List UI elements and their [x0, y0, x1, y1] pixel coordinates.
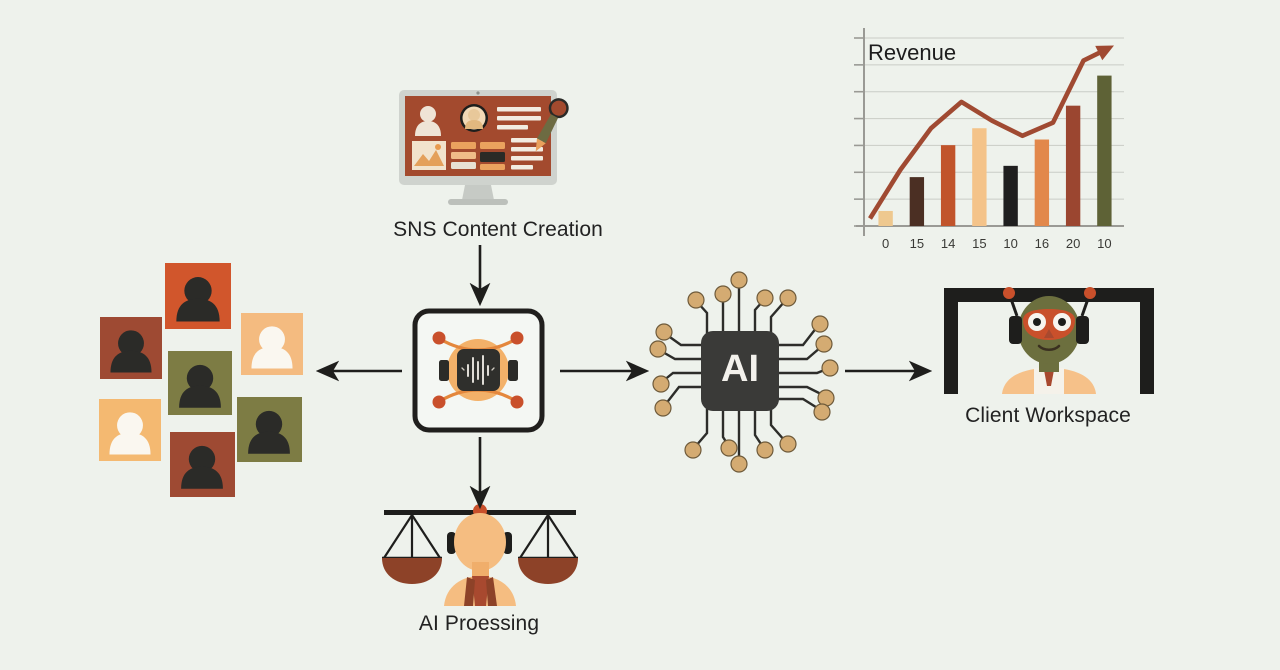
chart-title: Revenue — [868, 40, 956, 66]
chart-gridlines — [864, 38, 1124, 226]
chart-x-tick-labels: 015141510162010 — [882, 236, 1112, 251]
chart-x-tick-label: 10 — [1003, 236, 1017, 251]
chart-y-ticks — [854, 38, 864, 226]
chart-x-tick-label: 15 — [972, 236, 986, 251]
chart-x-tick-label: 20 — [1066, 236, 1080, 251]
chart-x-tick-label: 16 — [1035, 236, 1049, 251]
chart-x-tick-label: 10 — [1097, 236, 1111, 251]
chart-x-tick-label: 15 — [910, 236, 924, 251]
chart-x-tick-label: 14 — [941, 236, 955, 251]
diagram-canvas: SNS Content Creation — [0, 0, 1280, 670]
chart-x-tick-label: 0 — [882, 236, 889, 251]
revenue-chart: 015141510162010 Revenue — [838, 18, 1130, 266]
